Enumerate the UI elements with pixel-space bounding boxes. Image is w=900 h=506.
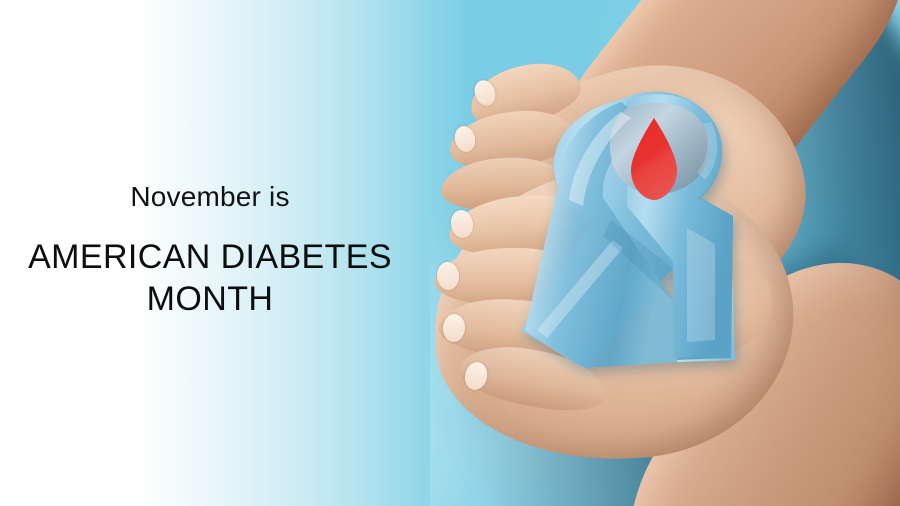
kicker-text: November is bbox=[0, 180, 420, 214]
page-title: AMERICAN DIABETES MONTH bbox=[0, 236, 420, 320]
poster-canvas: November is AMERICAN DIABETES MONTH bbox=[0, 0, 900, 506]
diabetes-awareness-ribbon bbox=[415, 0, 900, 506]
hands-photo bbox=[415, 0, 900, 506]
headline-line-1: AMERICAN DIABETES bbox=[28, 238, 392, 276]
headline-line-2: MONTH bbox=[147, 280, 274, 318]
text-block: November is AMERICAN DIABETES MONTH bbox=[0, 180, 420, 320]
